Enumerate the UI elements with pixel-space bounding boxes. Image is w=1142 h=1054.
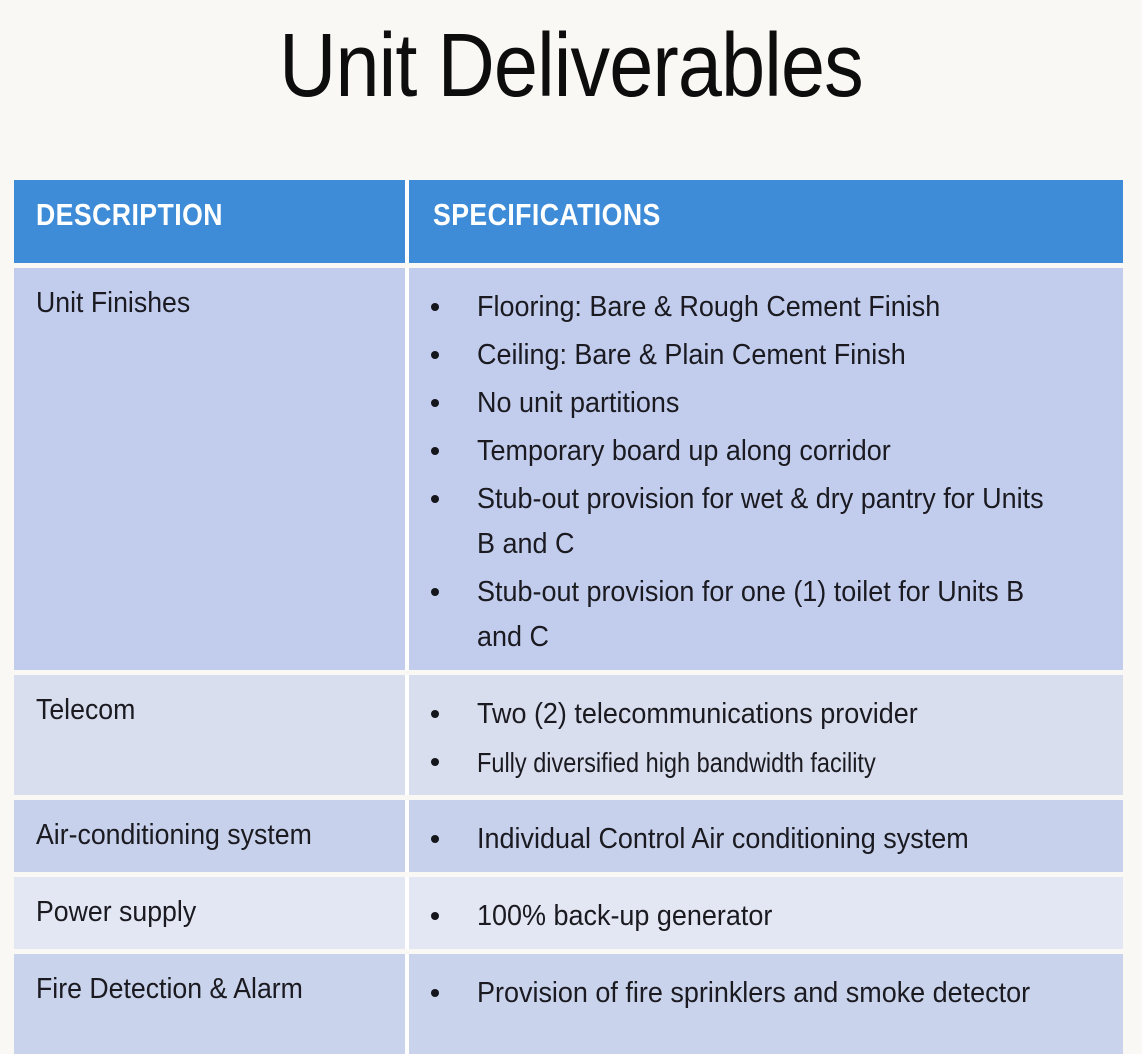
list-item: Ceiling: Bare & Plain Cement Finish: [409, 333, 1113, 378]
header-cell-specifications: SPECIFICATIONS: [405, 180, 1123, 263]
list-item: Two (2) telecommunications provider: [409, 692, 1113, 737]
bullet-icon: [409, 285, 477, 330]
row-description-label: Unit Finishes: [36, 285, 190, 321]
row-description-cell: Fire Detection & Alarm: [14, 954, 405, 1054]
list-item-label: Provision of fire sprinklers and smoke d…: [477, 971, 1068, 1016]
bullet-icon: [409, 429, 477, 474]
list-item-label: Stub-out provision for one (1) toilet fo…: [477, 570, 1068, 660]
bullet-icon: [409, 817, 477, 862]
header-label-specifications: SPECIFICATIONS: [433, 198, 661, 232]
specification-list: Individual Control Air conditioning syst…: [409, 817, 1113, 862]
page-title: Unit Deliverables: [69, 12, 1074, 120]
specification-list: 100% back-up generator: [409, 894, 1113, 939]
row-description-label: Telecom: [36, 692, 135, 728]
row-description-label: Fire Detection & Alarm: [36, 971, 303, 1007]
row-specifications-cell: 100% back-up generator: [405, 877, 1123, 949]
list-item: Temporary board up along corridor: [409, 429, 1113, 474]
list-item-label: No unit partitions: [477, 381, 1068, 426]
list-item: Individual Control Air conditioning syst…: [409, 817, 1113, 862]
row-description-cell: Air-conditioning system: [14, 800, 405, 872]
list-item-label: Ceiling: Bare & Plain Cement Finish: [477, 333, 1068, 378]
specification-list: Provision of fire sprinklers and smoke d…: [409, 971, 1113, 1016]
list-item-label: Flooring: Bare & Rough Cement Finish: [477, 285, 1068, 330]
list-item: Provision of fire sprinklers and smoke d…: [409, 971, 1113, 1016]
list-item-label: Stub-out provision for wet & dry pantry …: [477, 477, 1068, 567]
row-specifications-cell: Provision of fire sprinklers and smoke d…: [405, 954, 1123, 1054]
row-specifications-cell: Two (2) telecommunications provider Full…: [405, 675, 1123, 795]
row-description-cell: Power supply: [14, 877, 405, 949]
table-header-row: DESCRIPTION SPECIFICATIONS: [14, 180, 1123, 263]
list-item-label: Temporary board up along corridor: [477, 429, 1068, 474]
row-description-label: Air-conditioning system: [36, 817, 312, 853]
bullet-icon: [409, 477, 477, 522]
list-item-label: Individual Control Air conditioning syst…: [477, 817, 1068, 862]
list-item-label: 100% back-up generator: [477, 894, 1068, 939]
table-row: Power supply 100% back-up generator: [14, 877, 1123, 949]
list-item: Flooring: Bare & Rough Cement Finish: [409, 285, 1113, 330]
bullet-icon: [409, 692, 477, 737]
header-label-description: DESCRIPTION: [36, 198, 223, 232]
row-specifications-cell: Flooring: Bare & Rough Cement Finish Cei…: [405, 268, 1123, 670]
list-item: Stub-out provision for wet & dry pantry …: [409, 477, 1113, 567]
bullet-icon: [409, 570, 477, 615]
table-row: Fire Detection & Alarm Provision of fire…: [14, 954, 1123, 1054]
table-row: Unit Finishes Flooring: Bare & Rough Cem…: [14, 268, 1123, 670]
bullet-icon: [409, 894, 477, 939]
bullet-icon: [409, 740, 477, 785]
list-item: No unit partitions: [409, 381, 1113, 426]
bullet-icon: [409, 381, 477, 426]
header-cell-description: DESCRIPTION: [14, 180, 405, 263]
list-item: Stub-out provision for one (1) toilet fo…: [409, 570, 1113, 660]
row-description-label: Power supply: [36, 894, 196, 930]
list-item-label: Two (2) telecommunications provider: [477, 692, 1068, 737]
deliverables-table: DESCRIPTION SPECIFICATIONS Unit Finishes…: [14, 180, 1123, 1054]
bullet-icon: [409, 333, 477, 378]
table-row: Air-conditioning system Individual Contr…: [14, 800, 1123, 872]
row-description-cell: Unit Finishes: [14, 268, 405, 670]
bullet-icon: [409, 971, 477, 1016]
row-specifications-cell: Individual Control Air conditioning syst…: [405, 800, 1123, 872]
list-item-label: Fully diversified high bandwidth facilit…: [477, 740, 1011, 785]
table-row: Telecom Two (2) telecommunications provi…: [14, 675, 1123, 795]
specification-list: Flooring: Bare & Rough Cement Finish Cei…: [409, 285, 1113, 660]
specification-list: Two (2) telecommunications provider Full…: [409, 692, 1113, 785]
row-description-cell: Telecom: [14, 675, 405, 795]
list-item: 100% back-up generator: [409, 894, 1113, 939]
slide-canvas: Unit Deliverables DESCRIPTION SPECIFICAT…: [0, 0, 1142, 1044]
list-item: Fully diversified high bandwidth facilit…: [409, 740, 1113, 785]
